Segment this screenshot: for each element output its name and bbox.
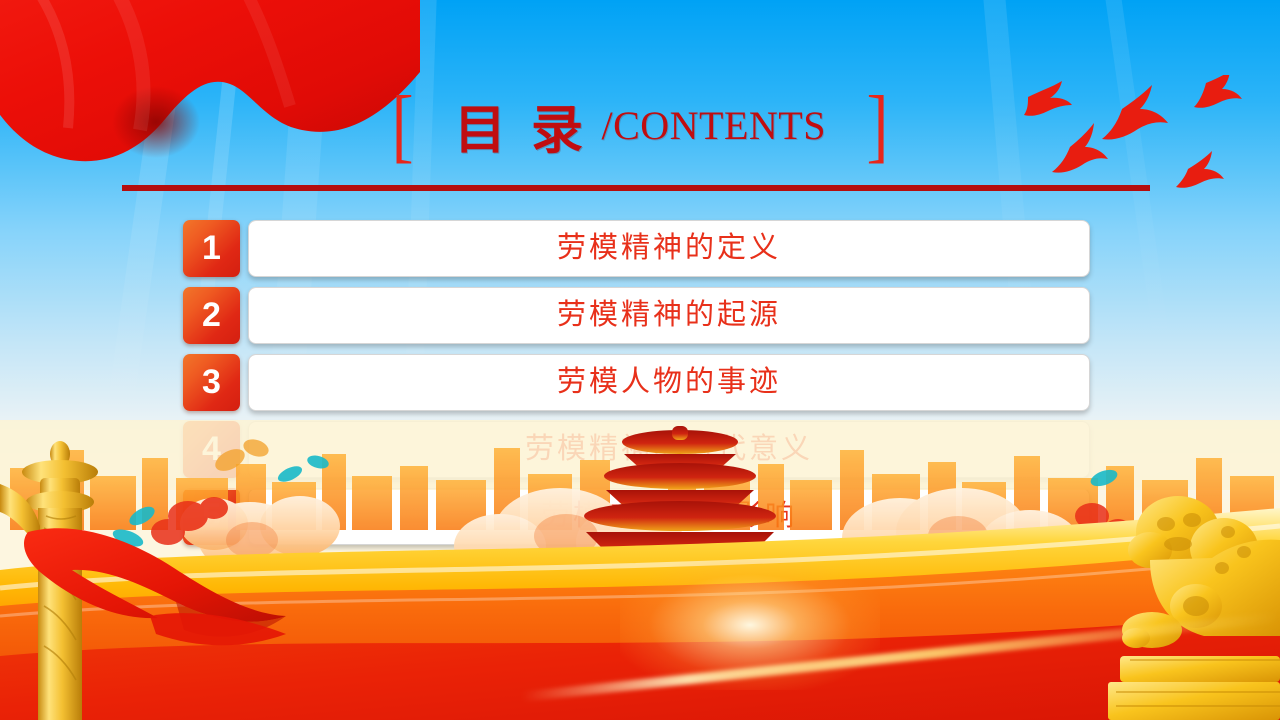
- item-label: 劳模精神的起源: [249, 288, 1089, 343]
- item-card[interactable]: 劳模人物的事迹: [248, 354, 1090, 411]
- page-title: 目 录: [454, 88, 589, 163]
- presentation-slide: [ 目 录 /CONTENTS ] 1 劳模精神的定义 2 劳模精神的起源 3 …: [0, 0, 1280, 720]
- slide-header: [ 目 录 /CONTENTS ]: [0, 88, 1280, 163]
- item-label: 劳模精神的时代意义: [249, 422, 1089, 477]
- item-card[interactable]: 劳模精神的起源: [248, 287, 1090, 344]
- list-item[interactable]: 2 劳模精神的起源: [0, 287, 1280, 344]
- title-divider: [122, 185, 1150, 191]
- list-item[interactable]: 1 劳模精神的定义: [0, 220, 1280, 277]
- list-item[interactable]: 3 劳模人物的事迹: [0, 354, 1280, 411]
- item-card[interactable]: 劳模精神的时代意义: [248, 421, 1090, 478]
- item-number-badge: 1: [183, 220, 240, 277]
- item-number-badge: 2: [183, 287, 240, 344]
- item-card[interactable]: 劳模精神的定义: [248, 220, 1090, 277]
- item-label: 劳模对青年的影响: [249, 489, 1089, 544]
- light-glow: [620, 560, 880, 690]
- item-card[interactable]: 劳模对青年的影响: [248, 488, 1090, 545]
- item-label: 劳模人物的事迹: [249, 355, 1089, 410]
- item-number-badge: 3: [183, 354, 240, 411]
- list-item[interactable]: 5 劳模对青年的影响: [0, 488, 1280, 545]
- page-title-en: /CONTENTS: [601, 102, 826, 149]
- bracket-right: ]: [866, 84, 888, 167]
- list-item[interactable]: 4 劳模精神的时代意义: [0, 421, 1280, 478]
- contents-list: 1 劳模精神的定义 2 劳模精神的起源 3 劳模人物的事迹 4 劳模精神的时代意…: [0, 220, 1280, 555]
- item-number-badge: 4: [183, 421, 240, 478]
- item-label: 劳模精神的定义: [249, 221, 1089, 276]
- light-streak: [522, 612, 1279, 701]
- bracket-left: [: [392, 84, 414, 167]
- item-number-badge: 5: [183, 488, 240, 545]
